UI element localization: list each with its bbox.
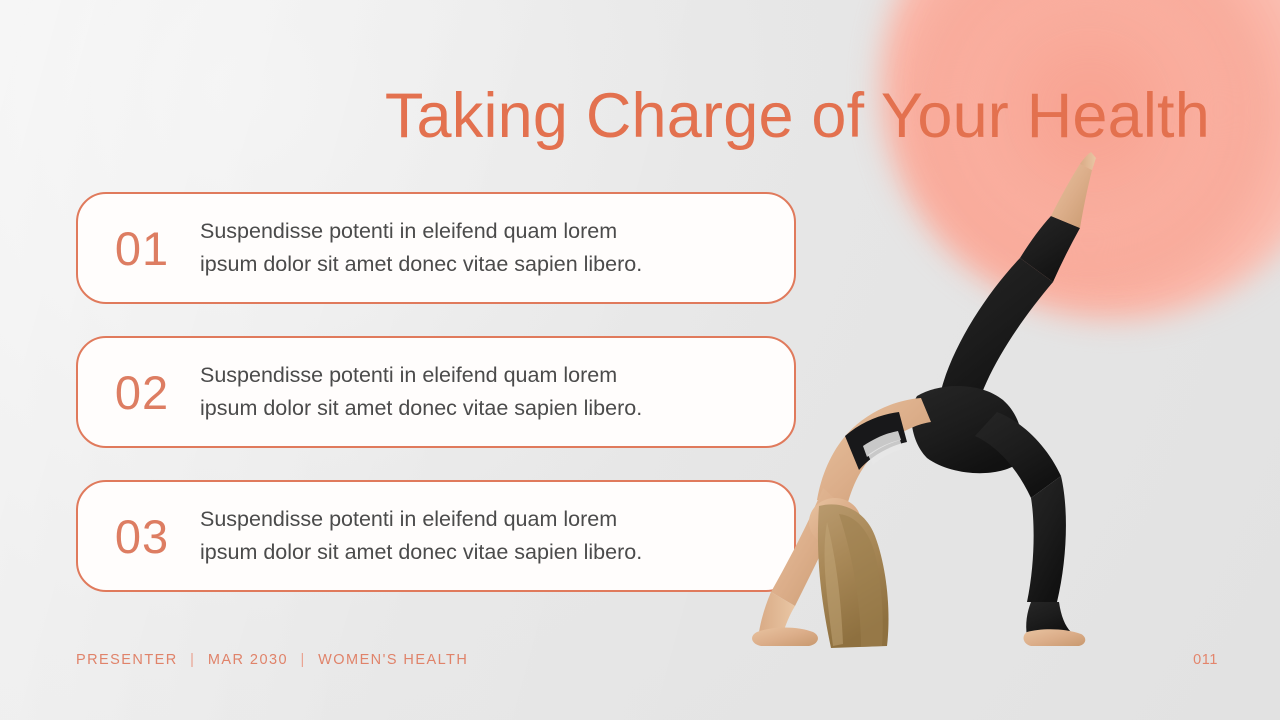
card-line-2: ipsum dolor sit amet donec vitae sapien … <box>200 536 770 569</box>
card-line-1: Suspendisse potenti in eleifend quam lor… <box>200 219 617 243</box>
card-line-2: ipsum dolor sit amet donec vitae sapien … <box>200 392 770 425</box>
list-item[interactable]: 02 Suspendisse potenti in eleifend quam … <box>76 336 796 448</box>
footer-separator-1: | <box>183 652 202 668</box>
footer-meta: PRESENTER | MAR 2030 | WOMEN'S HEALTH <box>76 652 468 668</box>
list-item[interactable]: 03 Suspendisse potenti in eleifend quam … <box>76 480 796 592</box>
card-line-2: ipsum dolor sit amet donec vitae sapien … <box>200 248 770 281</box>
footer-presenter: PRESENTER <box>76 652 178 668</box>
card-body-text: Suspendisse potenti in eleifend quam lor… <box>200 215 794 282</box>
page-number: 011 <box>1193 652 1218 668</box>
footer-date: MAR 2030 <box>208 652 288 668</box>
card-body-text: Suspendisse potenti in eleifend quam lor… <box>200 503 794 570</box>
page-title: Taking Charge of Your Health <box>300 82 1210 150</box>
card-number: 03 <box>78 513 200 560</box>
numbered-card-list: 01 Suspendisse potenti in eleifend quam … <box>76 192 796 624</box>
card-number: 01 <box>78 225 200 272</box>
card-body-text: Suspendisse potenti in eleifend quam lor… <box>200 359 794 426</box>
card-line-1: Suspendisse potenti in eleifend quam lor… <box>200 363 617 387</box>
card-number: 02 <box>78 369 200 416</box>
list-item[interactable]: 01 Suspendisse potenti in eleifend quam … <box>76 192 796 304</box>
presentation-slide: Taking Charge of Your Health 01 Suspendi… <box>0 0 1280 720</box>
card-line-1: Suspendisse potenti in eleifend quam lor… <box>200 507 617 531</box>
footer-separator-2: | <box>293 652 312 668</box>
footer-topic: WOMEN'S HEALTH <box>318 652 468 668</box>
